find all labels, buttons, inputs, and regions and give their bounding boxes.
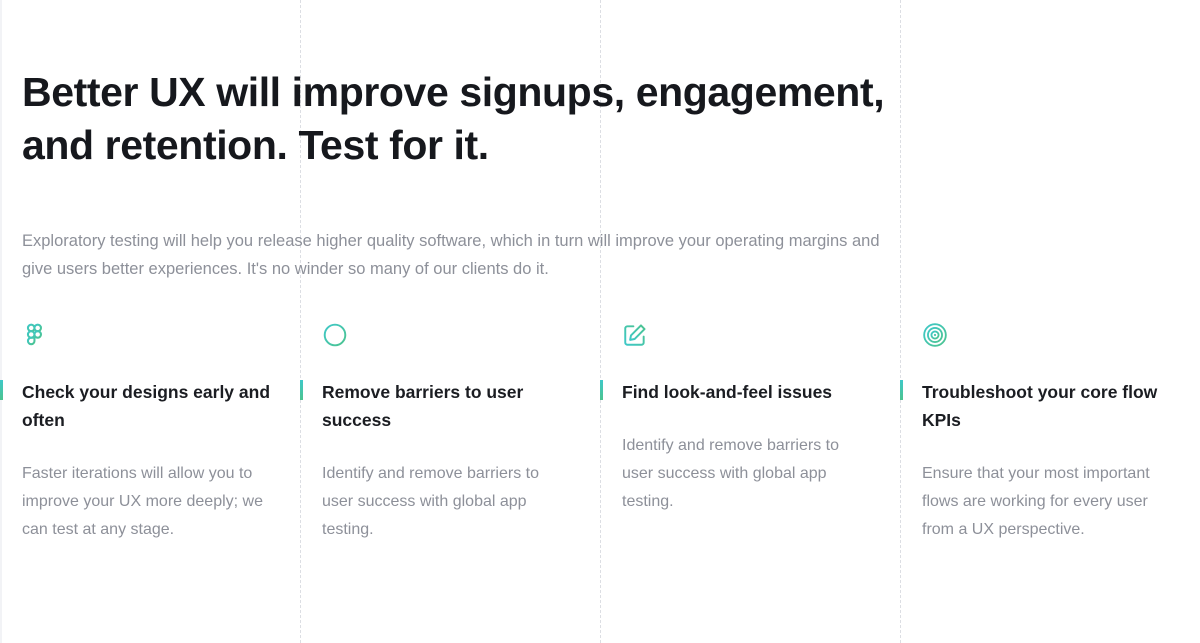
page-root: Better UX will improve signups, engageme… [0,0,1200,643]
feature-title-4: Troubleshoot your core flow KPIs [922,378,1172,434]
feature-body-3: Identify and remove barriers to user suc… [622,432,872,516]
target-icon [922,322,948,348]
edit-square-icon [622,322,648,348]
feature-body-4: Ensure that your most important flows ar… [922,460,1172,544]
accent-bar-4 [900,380,903,400]
figma-icon [22,322,48,348]
accent-bar-2 [300,380,303,400]
page-intro-paragraph: Exploratory testing will help you releas… [22,227,882,283]
feature-title-3: Find look-and-feel issues [622,378,872,406]
page-headline: Better UX will improve signups, engageme… [22,66,892,172]
feature-column-3: Find look-and-feel issues Identify and r… [600,322,900,622]
feature-column-2: Remove barriers to user success Identify… [300,322,600,622]
feature-title-wrap-4: Troubleshoot your core flow KPIs [922,378,1172,434]
accent-bar-1 [0,380,3,400]
feature-body-2: Identify and remove barriers to user suc… [322,460,572,544]
accent-bar-3 [600,380,603,400]
alert-circle-icon [322,322,348,348]
feature-title-1: Check your designs early and often [22,378,272,434]
feature-title-2: Remove barriers to user success [322,378,572,434]
feature-column-1: Check your designs early and often Faste… [0,322,300,622]
feature-title-wrap-1: Check your designs early and often [22,378,272,434]
feature-body-1: Faster iterations will allow you to impr… [22,460,272,544]
feature-title-wrap-3: Find look-and-feel issues [622,378,872,406]
feature-column-4: Troubleshoot your core flow KPIs Ensure … [900,322,1200,622]
feature-title-wrap-2: Remove barriers to user success [322,378,572,434]
feature-columns: Check your designs early and often Faste… [0,322,1200,622]
